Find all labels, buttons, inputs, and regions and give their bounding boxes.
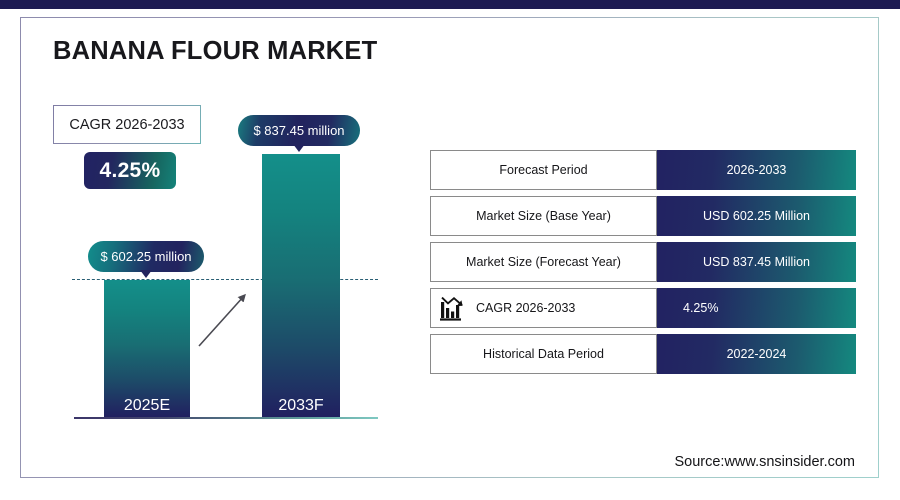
table-row-label-cell: Market Size (Forecast Year) <box>430 242 657 282</box>
table-row-label-cell: Market Size (Base Year) <box>430 196 657 236</box>
value-callout-2033f: $ 837.45 million <box>238 115 360 146</box>
table-row: Forecast Period 2026-2033 <box>430 150 856 190</box>
table-row-label: CAGR 2026-2033 <box>476 301 575 315</box>
summary-table: Forecast Period 2026-2033 Market Size (B… <box>430 150 856 380</box>
bar-chart-trend-icon <box>440 295 470 321</box>
top-accent-bar <box>0 0 900 9</box>
table-row-value: USD 602.25 Million <box>703 209 810 223</box>
table-row: Market Size (Forecast Year) USD 837.45 M… <box>430 242 856 282</box>
cagr-value-pill: 4.25% <box>84 152 176 189</box>
table-row-value: 2026-2033 <box>727 163 787 177</box>
cagr-value-text: 4.25% <box>99 159 160 183</box>
value-callout-2025e-pointer <box>140 270 152 278</box>
bar-2033f <box>262 154 340 417</box>
source-attribution: Source:www.snsinsider.com <box>674 454 855 470</box>
value-callout-2033f-pointer <box>293 144 305 152</box>
growth-arrow-icon <box>190 285 260 355</box>
table-row: Market Size (Base Year) USD 602.25 Milli… <box>430 196 856 236</box>
bar-label-2033f: 2033F <box>262 397 340 415</box>
table-row-value-cell: USD 837.45 Million <box>657 242 856 282</box>
table-row: CAGR 2026-2033 4.25% <box>430 288 856 328</box>
table-row-value-cell: 4.25% <box>657 288 856 328</box>
table-row-label-cell: CAGR 2026-2033 <box>430 288 657 328</box>
chart-axis-line <box>74 417 378 419</box>
cagr-label-text: CAGR 2026-2033 <box>69 117 184 133</box>
table-row-label: Market Size (Base Year) <box>476 209 611 223</box>
bar-label-2025e: 2025E <box>104 397 190 415</box>
table-row-value-cell: 2026-2033 <box>657 150 856 190</box>
value-callout-2025e-text: $ 602.25 million <box>100 249 191 264</box>
value-callout-2033f-text: $ 837.45 million <box>253 123 344 138</box>
table-row-value-cell: USD 602.25 Million <box>657 196 856 236</box>
table-row-value: 4.25% <box>683 301 718 315</box>
cagr-label-box: CAGR 2026-2033 <box>53 105 201 144</box>
table-row-label-cell: Forecast Period <box>430 150 657 190</box>
value-callout-2025e: $ 602.25 million <box>88 241 204 272</box>
table-row-label: Forecast Period <box>499 163 587 177</box>
table-row-label-cell: Historical Data Period <box>430 334 657 374</box>
table-row: Historical Data Period 2022-2024 <box>430 334 856 374</box>
table-row-label: Market Size (Forecast Year) <box>466 255 621 269</box>
table-row-value: USD 837.45 Million <box>703 255 810 269</box>
table-row-value-cell: 2022-2024 <box>657 334 856 374</box>
table-row-value: 2022-2024 <box>727 347 787 361</box>
table-row-label: Historical Data Period <box>483 347 604 361</box>
page-title: BANANA FLOUR MARKET <box>53 37 377 66</box>
